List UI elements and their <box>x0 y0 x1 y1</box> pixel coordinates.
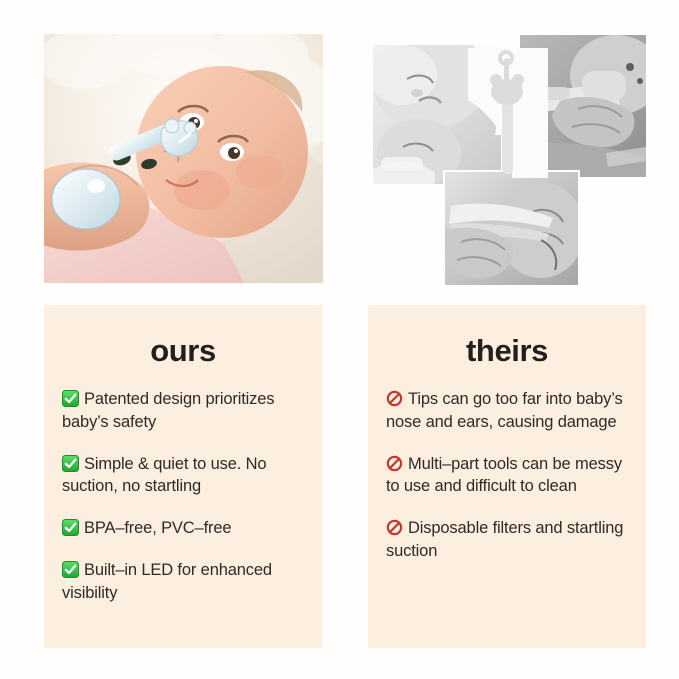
collage-tile-tweezer-tool <box>445 172 578 285</box>
hero-photo-illustration <box>44 34 323 283</box>
theirs-feature-text: Multi–part tools can be messy to use and… <box>386 455 622 496</box>
hero-product-photo <box>44 34 323 283</box>
ours-feature-text: Built–in LED for enhanced visibility <box>62 561 272 602</box>
green-check-icon <box>62 455 79 472</box>
green-check-icon <box>62 390 79 407</box>
ours-feature-item: BPA–free, PVC–free <box>62 517 304 540</box>
ours-feature-item: Simple & quiet to use. No suction, no st… <box>62 453 304 499</box>
comparison-panels: ours Patented design prioritizes <box>0 295 679 679</box>
theirs-feature-list: Tips can go too far into baby’s nose and… <box>386 388 628 563</box>
green-check-icon <box>62 561 79 578</box>
theirs-feature-text: Tips can go too far into baby’s nose and… <box>386 390 623 431</box>
ours-feature-text: BPA–free, PVC–free <box>84 519 231 537</box>
ours-feature-item: Built–in LED for enhanced visibility <box>62 559 304 605</box>
competitor-collage <box>368 30 648 288</box>
tile-b-illustration <box>520 35 646 177</box>
panel-ours-title: ours <box>62 305 304 388</box>
panel-theirs: theirs Tips can go too far into baby’s n… <box>368 305 646 648</box>
red-prohibited-icon <box>386 390 403 407</box>
red-prohibited-icon <box>386 455 403 472</box>
collage-tile-sleeping-babies <box>373 45 501 184</box>
theirs-feature-item: Tips can go too far into baby’s nose and… <box>386 388 628 434</box>
ours-feature-list: Patented design prioritizes baby’s safet… <box>62 388 304 604</box>
tile-c-illustration <box>445 172 578 285</box>
panel-theirs-title: theirs <box>386 305 628 388</box>
media-row <box>0 0 679 295</box>
tile-a-illustration <box>373 45 501 184</box>
theirs-feature-text: Disposable filters and startling suction <box>386 519 623 560</box>
ours-feature-text: Simple & quiet to use. No suction, no st… <box>62 455 266 496</box>
red-prohibited-icon <box>386 519 403 536</box>
theirs-feature-item: Multi–part tools can be messy to use and… <box>386 453 628 499</box>
ours-feature-item: Patented design prioritizes baby’s safet… <box>62 388 304 434</box>
theirs-feature-item: Disposable filters and startling suction <box>386 517 628 563</box>
collage-tile-bulb-aspirator <box>520 35 646 177</box>
green-check-icon <box>62 519 79 536</box>
panel-ours: ours Patented design prioritizes <box>44 305 322 648</box>
ours-feature-text: Patented design prioritizes baby’s safet… <box>62 390 274 431</box>
